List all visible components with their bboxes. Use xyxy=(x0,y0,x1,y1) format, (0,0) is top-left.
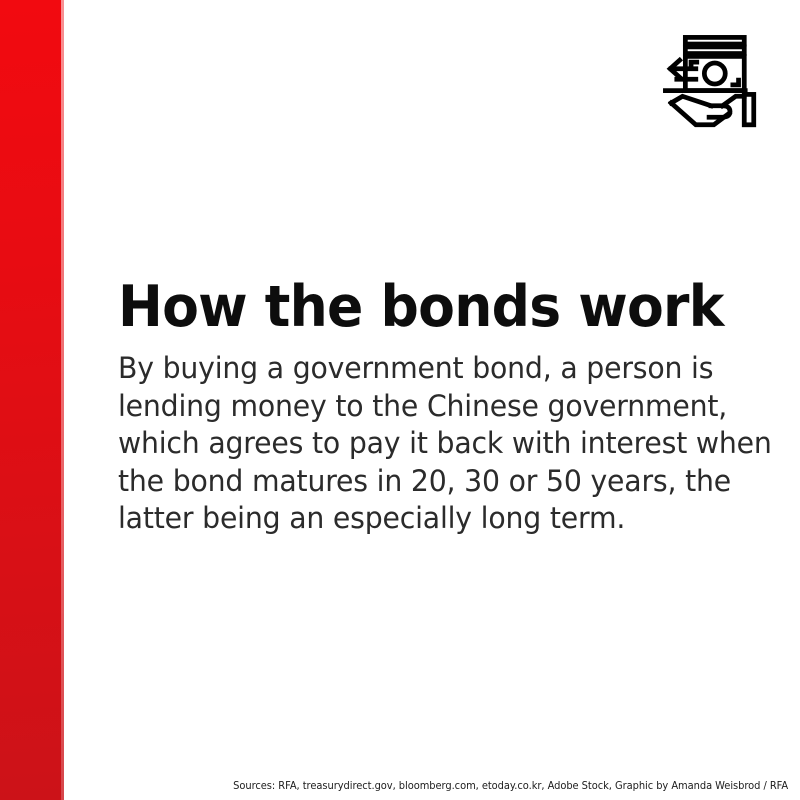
body-paragraph: By buying a government bond, a person is… xyxy=(118,350,729,538)
accent-bar-highlight-edge xyxy=(61,0,64,800)
sources-credit: Sources: RFA, treasurydirect.gov, bloomb… xyxy=(233,780,788,794)
body-line: latter being an especially long term. xyxy=(118,500,729,538)
body-line: By buying a government bond, a person is xyxy=(118,350,729,388)
body-line: which agrees to pay it back with interes… xyxy=(118,425,729,463)
body-line: lending money to the Chinese government, xyxy=(118,388,729,426)
infographic-card: How the bonds work By buying a governmen… xyxy=(0,0,800,800)
footer: Sources: RFA, treasurydirect.gov, bloomb… xyxy=(64,774,800,794)
page-title: How the bonds work xyxy=(118,278,716,336)
left-red-accent-bar xyxy=(0,0,64,800)
text-content-block: How the bonds work By buying a governmen… xyxy=(118,278,754,538)
money-in-hand-icon xyxy=(654,26,768,140)
body-line: the bond matures in 20, 30 or 50 years, … xyxy=(118,463,729,501)
